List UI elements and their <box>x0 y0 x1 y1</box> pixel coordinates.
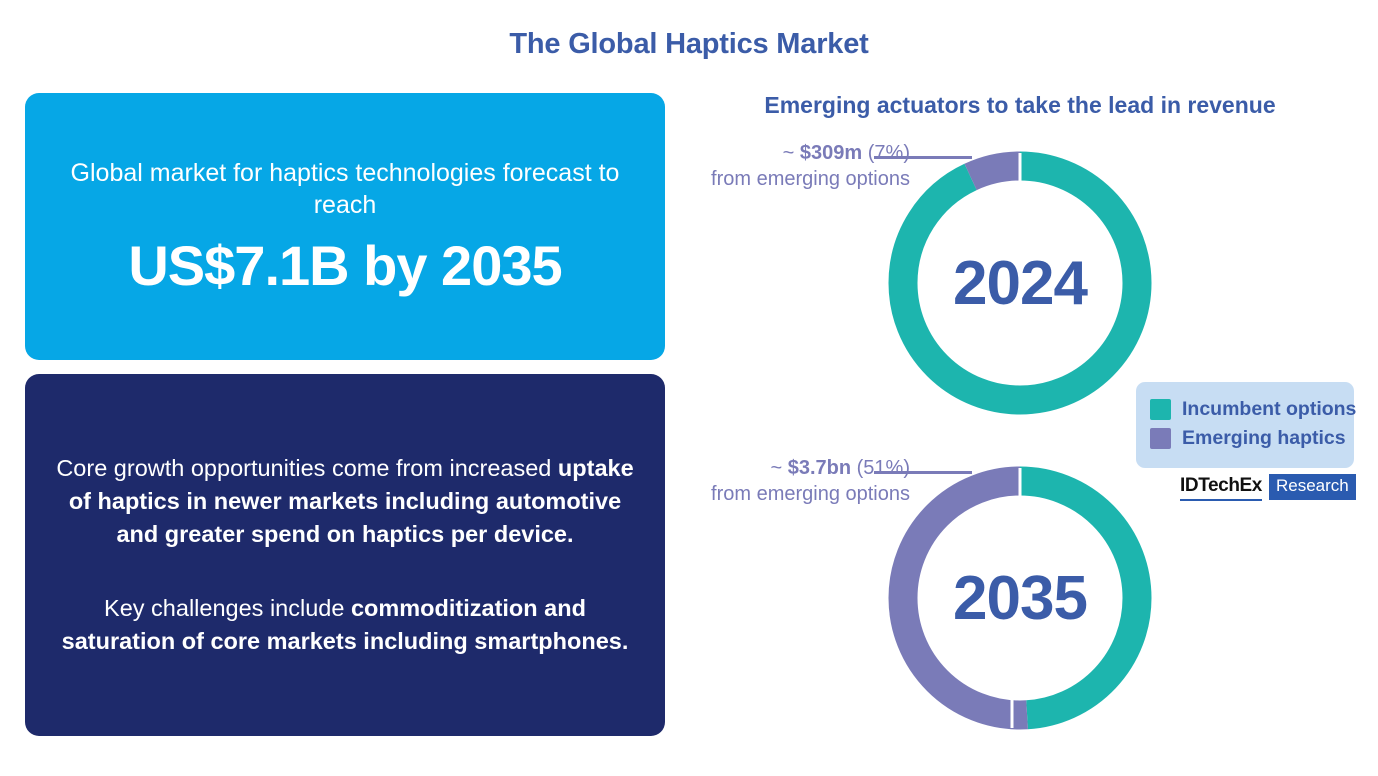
callout-2035-value: $3.7bn <box>788 457 851 479</box>
callout-2024-value: $309m <box>800 142 862 164</box>
callout-2035-value-line: ~ $3.7bn (51%) <box>660 455 910 481</box>
legend-label-emerging: Emerging haptics <box>1182 427 1346 450</box>
detail-card: Core growth opportunities come from incr… <box>25 374 665 736</box>
callout-2024-subtitle: from emerging options <box>660 166 910 192</box>
chart-heading: Emerging actuators to take the lead in r… <box>700 92 1340 119</box>
legend-item-emerging[interactable]: Emerging haptics <box>1150 427 1340 450</box>
highlight-card: Global market for haptics technologies f… <box>25 93 665 360</box>
donut-2024-svg <box>874 137 1166 429</box>
callout-2024-value-line: ~ $309m (7%) <box>660 140 910 166</box>
chart-legend: Incumbent options Emerging haptics <box>1136 382 1354 468</box>
callout-2024: ~ $309m (7%) from emerging options <box>660 140 910 193</box>
detail-card-paragraph-1: Core growth opportunities come from incr… <box>47 452 643 552</box>
brand-logo: IDTechEx Research <box>1180 474 1356 501</box>
callout-2035-subtitle: from emerging options <box>660 481 910 507</box>
detail-paragraph-1-plain: Core growth opportunities come from incr… <box>56 455 558 481</box>
highlight-card-figure: US$7.1B by 2035 <box>128 235 561 297</box>
callout-2035: ~ $3.7bn (51%) from emerging options <box>660 455 910 508</box>
brand-tag: Research <box>1269 474 1356 500</box>
callout-2024-tilde: ~ <box>783 142 800 164</box>
donut-2035-svg <box>874 452 1166 744</box>
highlight-card-lead: Global market for haptics technologies f… <box>55 157 635 221</box>
detail-card-paragraph-2: Key challenges include commoditization a… <box>47 592 643 659</box>
callout-2035-tilde: ~ <box>770 457 787 479</box>
detail-paragraph-2-plain: Key challenges include <box>104 595 351 621</box>
legend-item-incumbent[interactable]: Incumbent options <box>1150 398 1340 421</box>
legend-swatch-emerging-icon <box>1150 428 1171 449</box>
donut-chart-2024: 2024 <box>874 137 1166 429</box>
brand-name: IDTechEx <box>1180 474 1262 501</box>
legend-label-incumbent: Incumbent options <box>1182 398 1356 421</box>
donut-chart-2035: 2035 <box>874 452 1166 744</box>
page-title: The Global Haptics Market <box>0 28 1378 61</box>
legend-swatch-incumbent-icon <box>1150 399 1171 420</box>
